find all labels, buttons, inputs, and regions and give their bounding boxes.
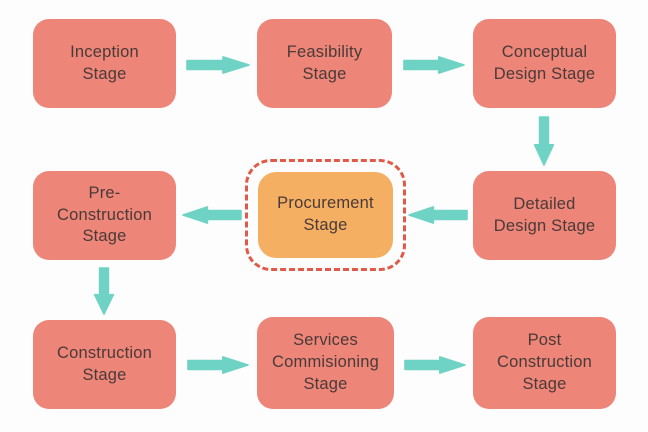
stage-node-procurement[interactable]: Procurement Stage: [258, 172, 393, 258]
arrow-pre-construction-to-construction: [91, 268, 117, 314]
arrow-inception-to-feasibility: [187, 52, 249, 78]
stage-node-feasibility[interactable]: Feasibility Stage: [257, 19, 392, 108]
arrow-detailed-design-to-procurement: [409, 202, 467, 228]
stage-node-services-commisioning[interactable]: Services Commisioning Stage: [257, 317, 394, 409]
arrow-feasibility-to-conceptual-design: [404, 52, 464, 78]
flowchart-canvas: Inception StageFeasibility StageConceptu…: [0, 0, 648, 432]
stage-node-construction[interactable]: Construction Stage: [33, 320, 176, 409]
stage-node-detailed-design[interactable]: Detailed Design Stage: [473, 171, 616, 260]
arrow-conceptual-to-detailed-design: [531, 117, 557, 165]
stage-node-inception[interactable]: Inception Stage: [33, 19, 176, 108]
stage-node-pre-construction[interactable]: Pre- Construction Stage: [33, 171, 176, 260]
stage-node-conceptual-design[interactable]: Conceptual Design Stage: [473, 19, 616, 108]
arrow-procurement-to-pre-construction: [183, 202, 241, 228]
arrow-construction-to-services: [188, 352, 248, 378]
stage-node-post-construction[interactable]: Post Construction Stage: [473, 317, 616, 409]
arrow-services-to-post-construction: [405, 352, 465, 378]
